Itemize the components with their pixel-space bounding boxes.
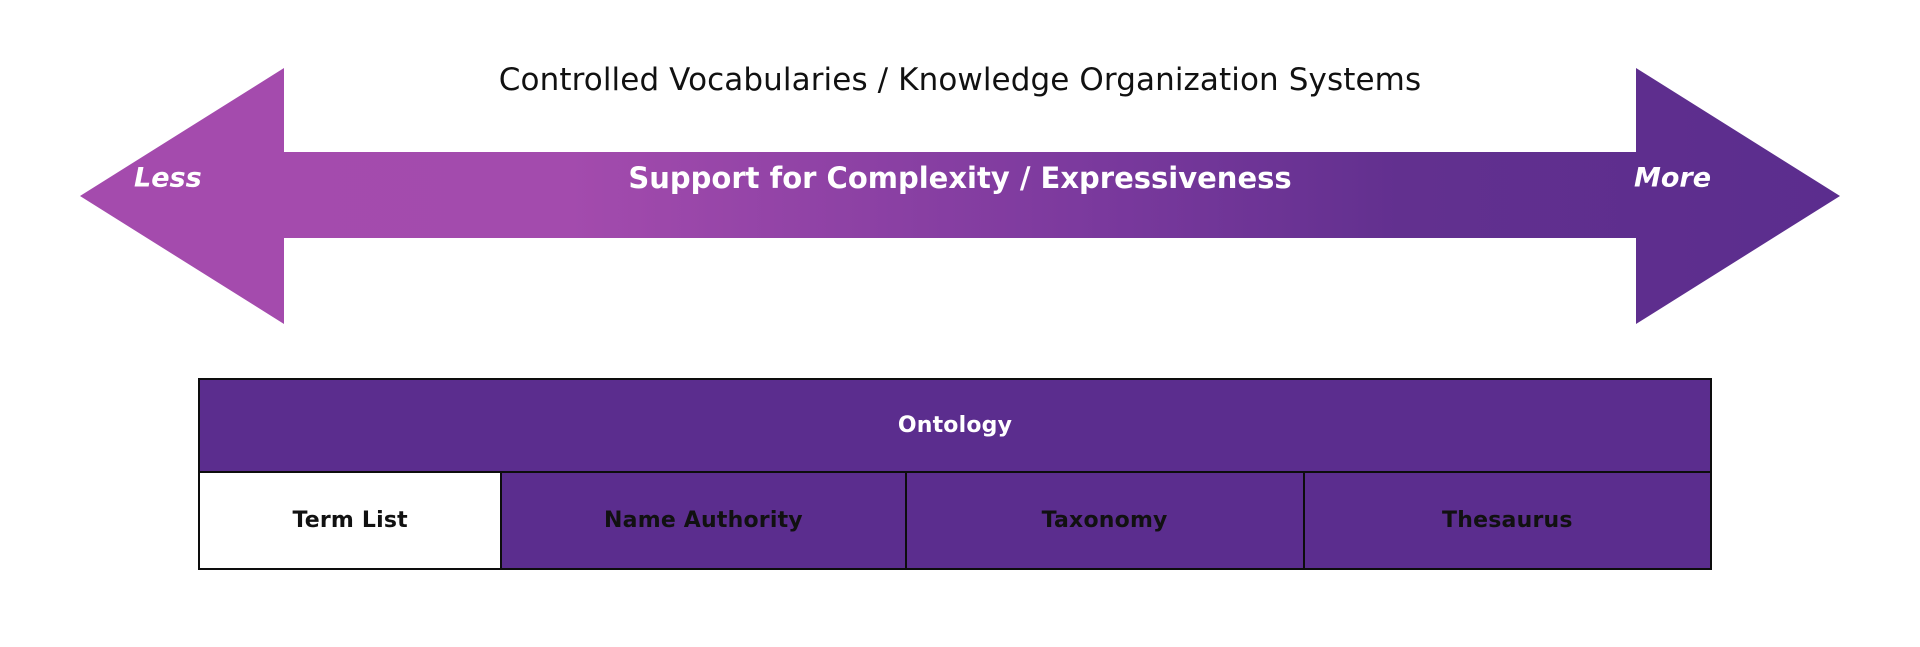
arrow-left-label: Less — [134, 163, 202, 194]
matrix-cell-name-authority: Name Authority — [502, 473, 906, 570]
double-headed-arrow-polygon — [80, 68, 1840, 324]
spectrum-arrow: Controlled Vocabularies / Knowledge Orga… — [0, 0, 1920, 340]
matrix-cell-term-list: Term List — [198, 473, 502, 570]
matrix-row-ontology: Ontology — [198, 378, 1712, 473]
matrix-row-types: Term List Name Authority Taxonomy Thesau… — [198, 473, 1712, 570]
figure-title: Controlled Vocabularies / Knowledge Orga… — [0, 62, 1920, 98]
matrix-cell-thesaurus: Thesaurus — [1305, 473, 1712, 570]
figure-canvas: Controlled Vocabularies / Knowledge Orga… — [0, 0, 1920, 647]
matrix-cell-ontology: Ontology — [198, 378, 1712, 473]
arrow-center-label: Support for Complexity / Expressiveness — [360, 161, 1560, 195]
matrix-cell-taxonomy: Taxonomy — [907, 473, 1305, 570]
vocabulary-matrix: Ontology Term List Name Authority Taxono… — [198, 378, 1712, 570]
arrow-right-label: More — [1634, 163, 1711, 194]
